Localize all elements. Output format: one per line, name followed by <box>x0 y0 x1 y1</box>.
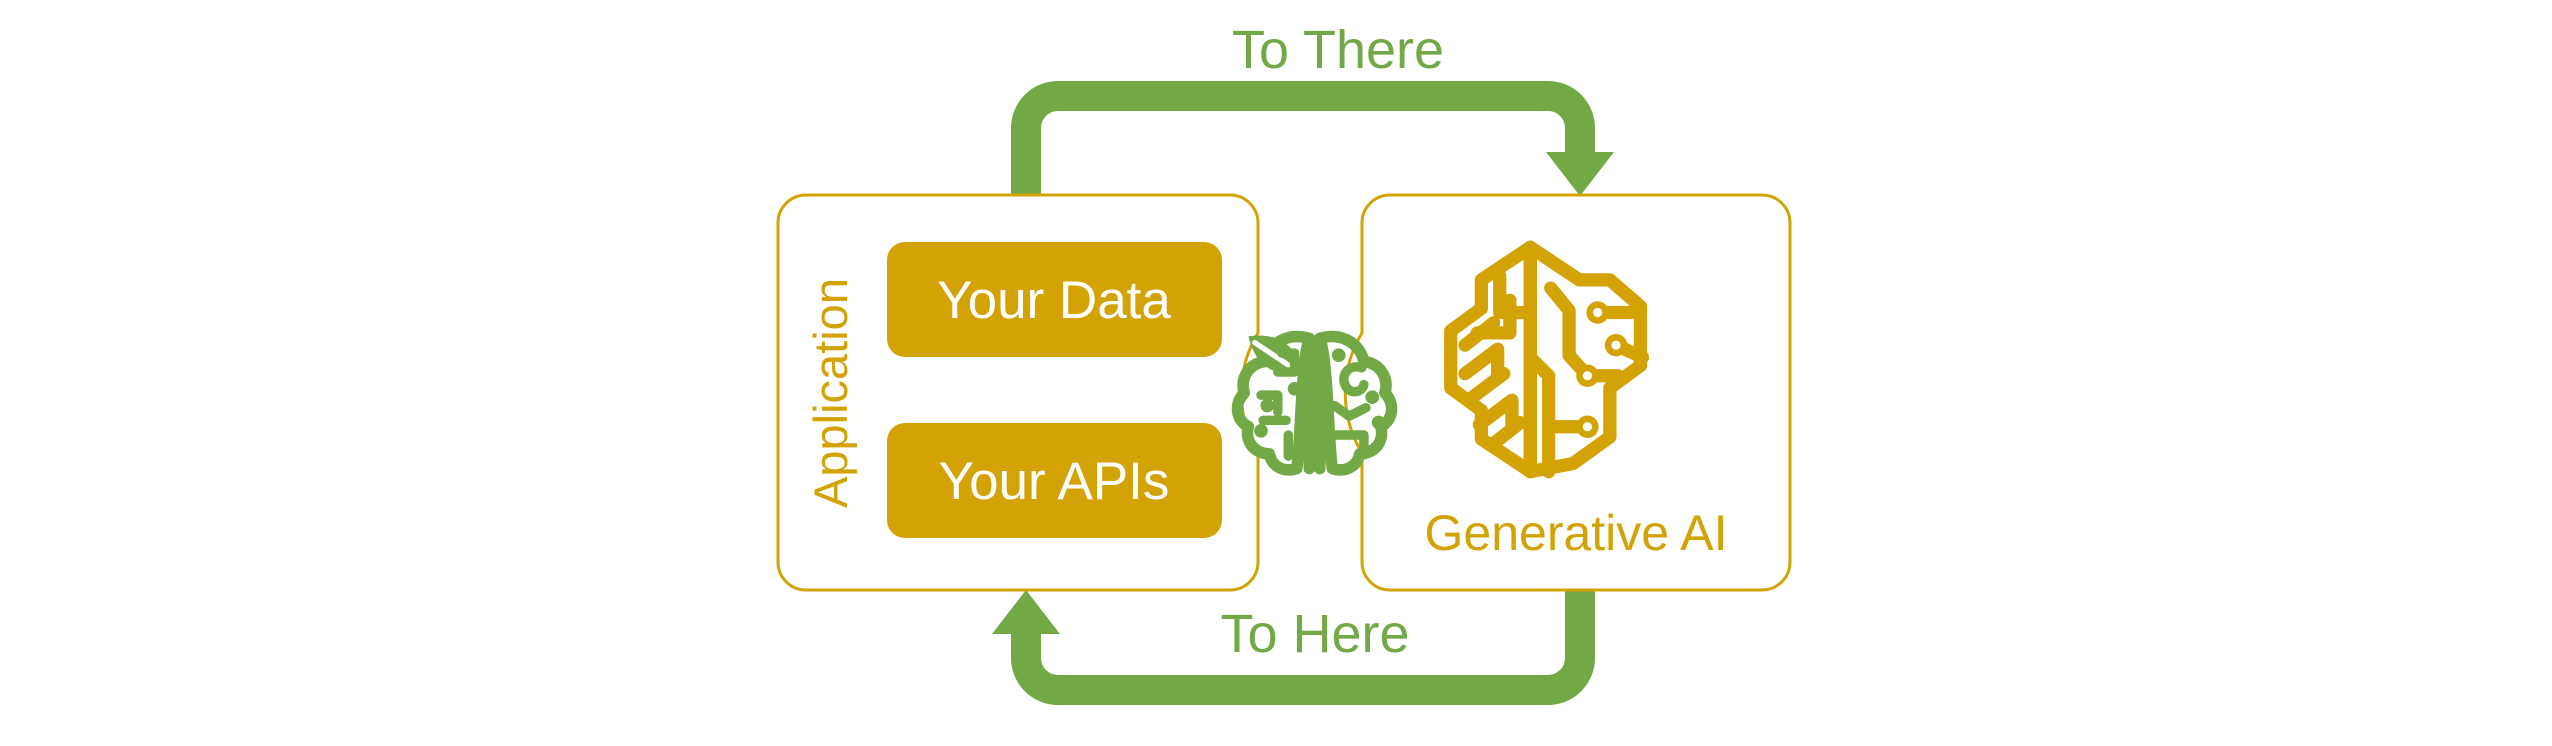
chip-your-apis[interactable]: Your APIs <box>887 423 1222 538</box>
chip-your-apis-label: Your APIs <box>939 452 1170 511</box>
diagram-canvas: To There To Here Application Your Data Y… <box>0 0 2552 746</box>
flow-arrow-to-there-head <box>1546 152 1614 196</box>
application-box[interactable]: Application Your Data Your APIs <box>778 195 1258 590</box>
generative-ai-box-label: Generative AI <box>1425 505 1728 561</box>
flow-arrow-to-here-head <box>992 590 1060 634</box>
architecture-diagram: To There To Here Application Your Data Y… <box>0 0 2552 746</box>
application-box-side-label: Application <box>804 278 857 508</box>
flow-arrow-to-there-shaft <box>1026 96 1580 210</box>
chip-your-data[interactable]: Your Data <box>887 242 1222 357</box>
chip-your-data-label: Your Data <box>937 271 1171 330</box>
flow-arrow-to-there <box>1026 96 1614 210</box>
flow-label-to-here: To Here <box>1220 604 1409 664</box>
generative-ai-box[interactable]: Generative AI <box>1345 195 1790 590</box>
flow-label-to-there: To There <box>1232 20 1444 80</box>
